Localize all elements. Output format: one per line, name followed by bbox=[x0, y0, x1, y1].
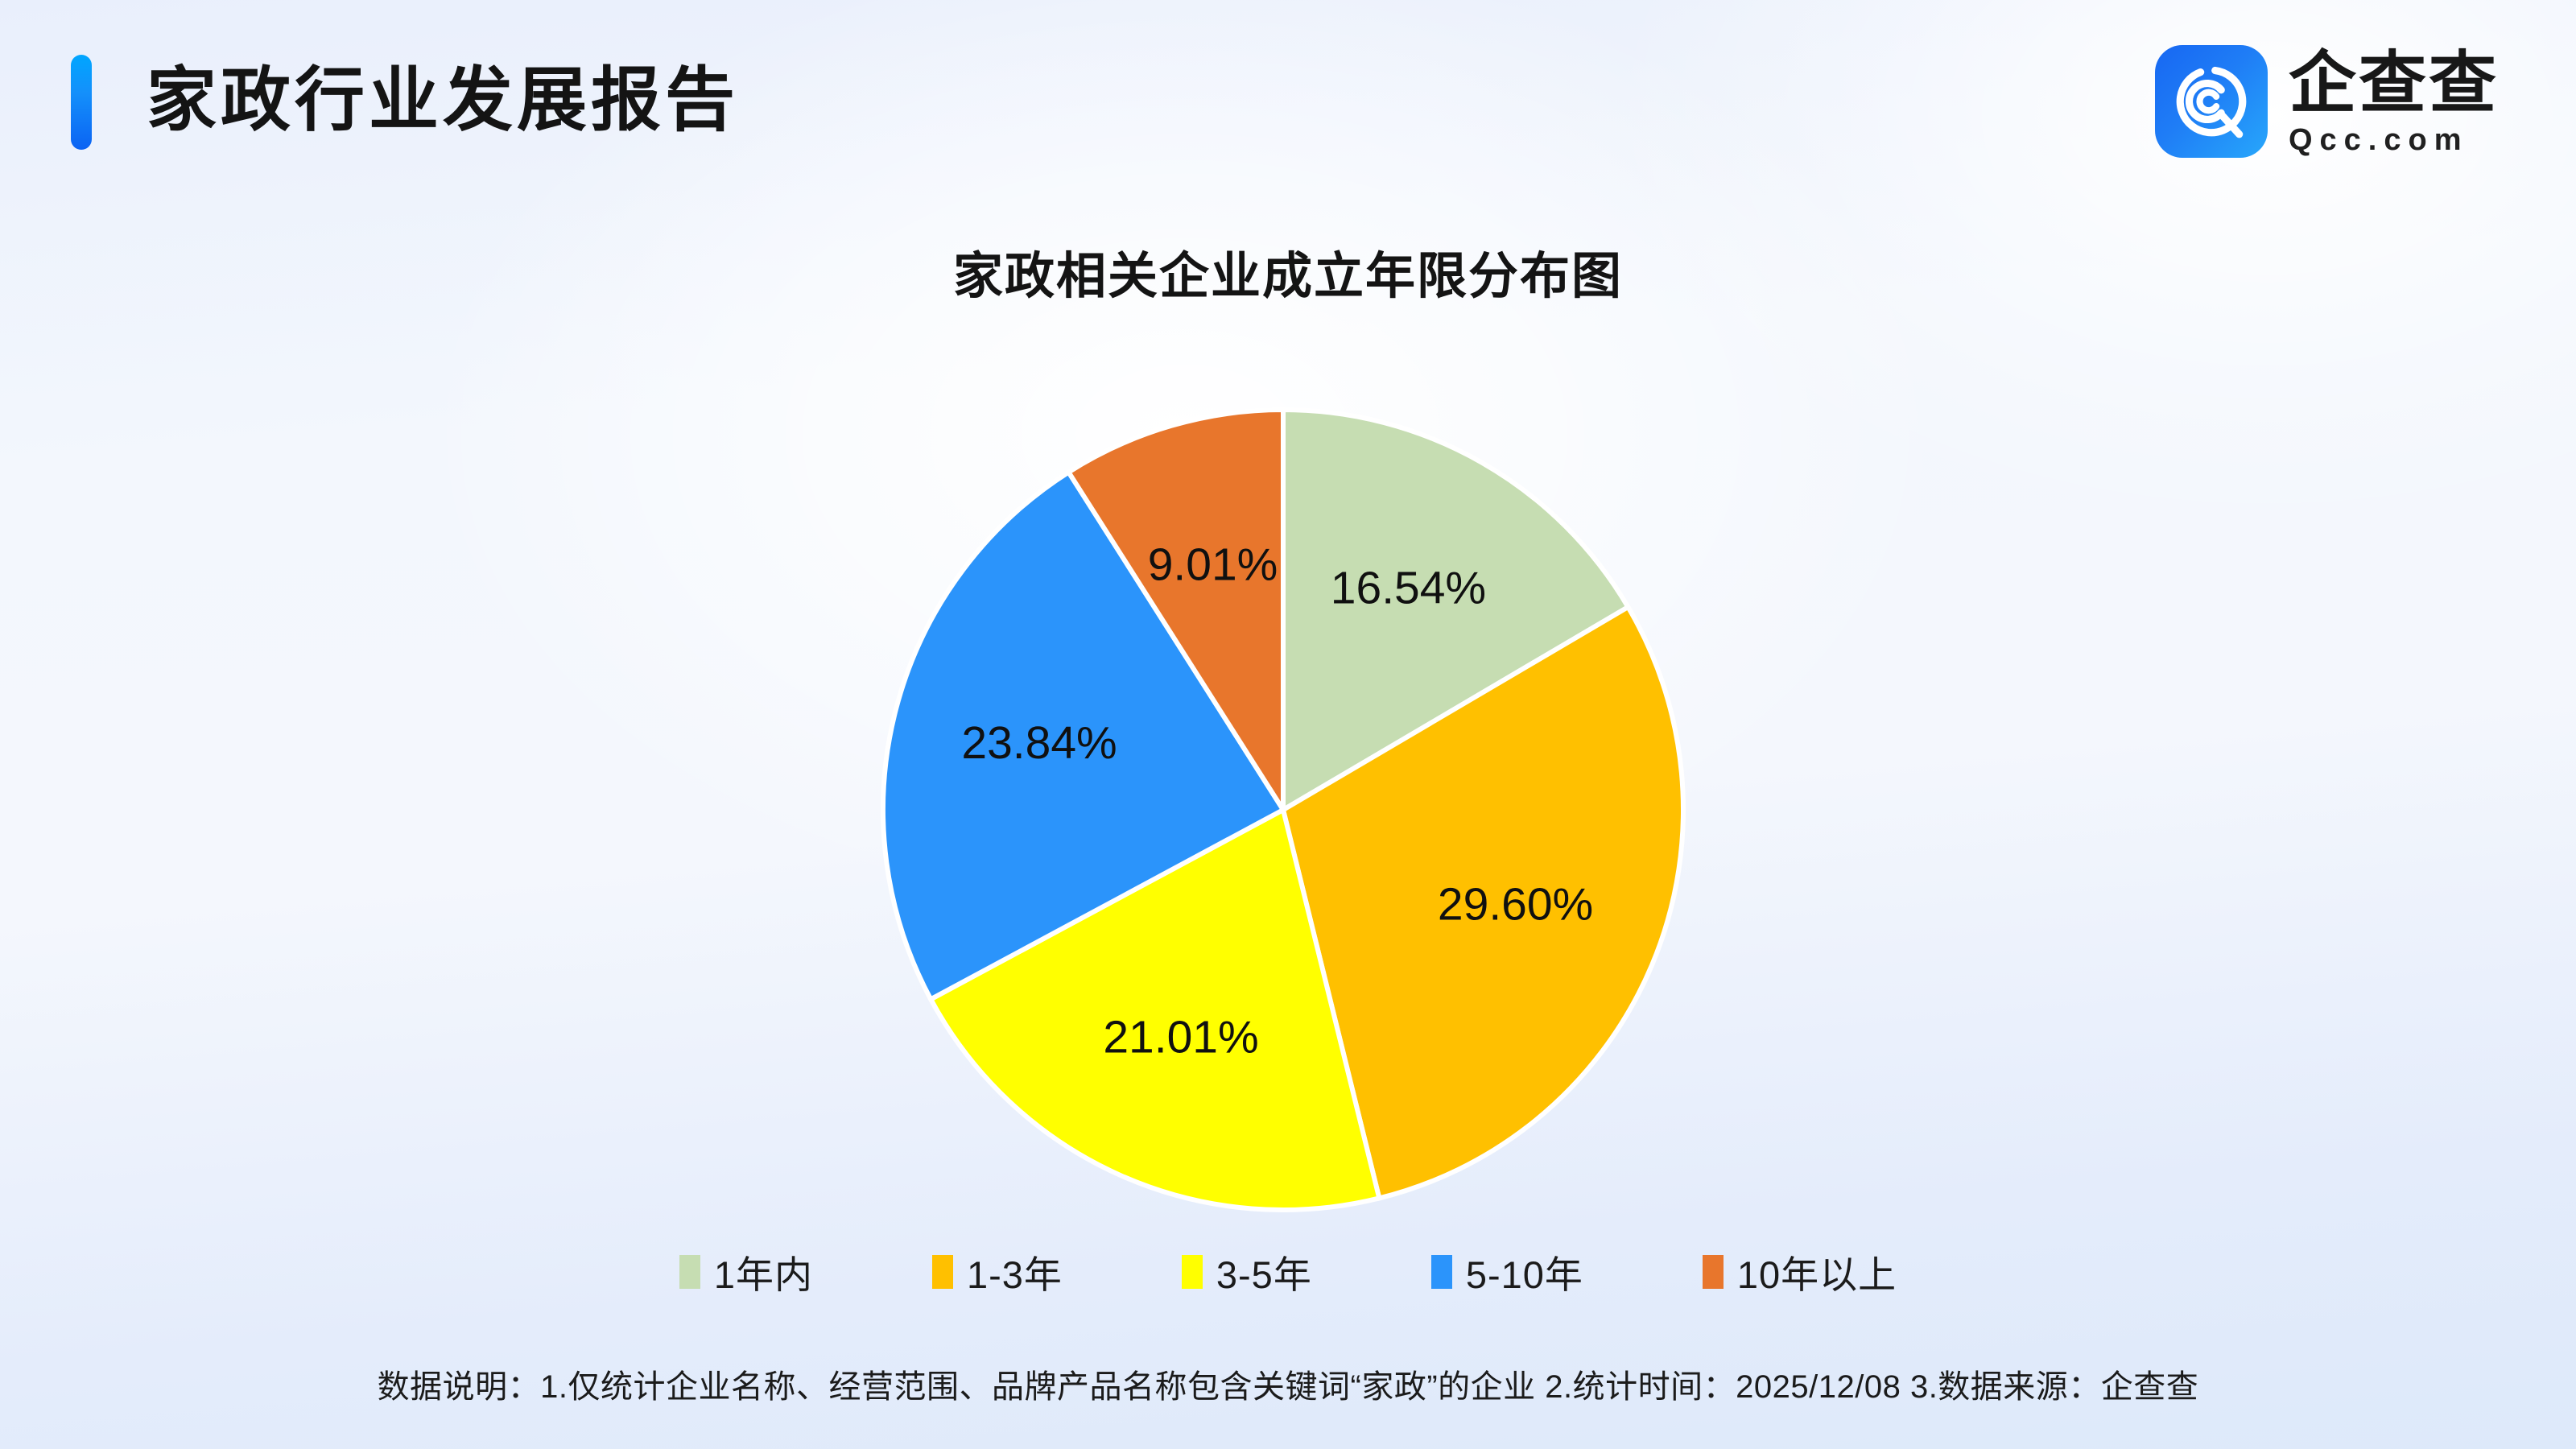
legend-swatch-icon bbox=[1703, 1255, 1724, 1289]
pie-slice-value: 21.01% bbox=[1103, 1011, 1258, 1063]
pie-slice-value: 23.84% bbox=[961, 717, 1117, 769]
legend-item[interactable]: 5-10年 bbox=[1431, 1244, 1583, 1299]
pie-chart: 16.54%29.60%21.01%23.84%9.01% bbox=[881, 407, 1686, 1212]
legend-swatch-icon bbox=[1182, 1255, 1203, 1289]
legend-item[interactable]: 1-3年 bbox=[932, 1244, 1063, 1299]
chart-legend: 1年内1-3年3-5年5-10年10年以上 bbox=[0, 1244, 2576, 1299]
legend-swatch-icon bbox=[679, 1255, 700, 1289]
brand-text: 企查查 Qcc.com bbox=[2289, 46, 2499, 157]
title-accent-bar bbox=[71, 55, 92, 150]
legend-swatch-icon bbox=[932, 1255, 953, 1289]
brand-domain: Qcc.com bbox=[2289, 123, 2499, 157]
pie-slice-value: 16.54% bbox=[1331, 562, 1486, 613]
legend-item[interactable]: 1年内 bbox=[679, 1244, 813, 1299]
pie-svg: 16.54%29.60%21.01%23.84%9.01% bbox=[881, 407, 1686, 1212]
legend-item[interactable]: 3-5年 bbox=[1182, 1244, 1312, 1299]
header: 家政行业发展报告 企查查 Qcc.com bbox=[0, 0, 2576, 193]
pie-slices bbox=[883, 410, 1683, 1210]
chart-title: 家政相关企业成立年限分布图 bbox=[0, 235, 2576, 308]
legend-label: 3-5年 bbox=[1216, 1244, 1312, 1299]
legend-item[interactable]: 10年以上 bbox=[1703, 1244, 1897, 1299]
legend-label: 5-10年 bbox=[1466, 1244, 1583, 1299]
footer-note: 数据说明：1.仅统计企业名称、经营范围、品牌产品名称包含关键词“家政”的企业 2… bbox=[0, 1360, 2576, 1407]
legend-label: 10年以上 bbox=[1737, 1244, 1897, 1299]
report-poster: 家政行业发展报告 企查查 Qcc.com 家政相关企业成立年限分布图 16.54… bbox=[0, 0, 2576, 1449]
legend-swatch-icon bbox=[1431, 1255, 1452, 1289]
page-title: 家政行业发展报告 bbox=[147, 50, 739, 151]
qcc-logo-icon bbox=[2155, 45, 2268, 158]
brand-name: 企查查 bbox=[2289, 46, 2499, 120]
pie-slice-value: 29.60% bbox=[1438, 879, 1593, 931]
pie-slice-value: 9.01% bbox=[1148, 539, 1278, 590]
legend-label: 1-3年 bbox=[967, 1244, 1063, 1299]
brand-logo[interactable]: 企查查 Qcc.com bbox=[2155, 45, 2499, 158]
legend-label: 1年内 bbox=[714, 1244, 813, 1299]
